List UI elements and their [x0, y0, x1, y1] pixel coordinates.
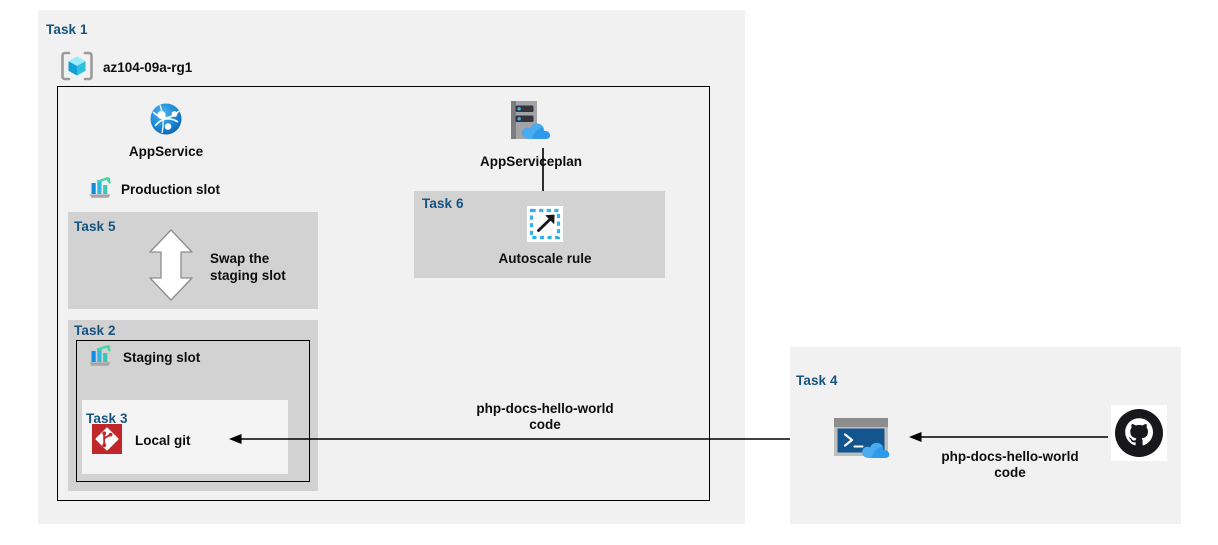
github-to-cloudshell-label-line1: php-docs-hello-world [941, 449, 1078, 464]
resource-group-node: az104-09a-rg1 [60, 50, 192, 87]
swap-slot-label-line1: Swap the [210, 251, 269, 266]
production-slot-label: Production slot [121, 182, 220, 198]
github-to-cloudshell-label: php-docs-hello-world code [925, 449, 1095, 482]
swap-slot-label-line2: staging slot [210, 268, 286, 283]
git-repository-icon [92, 424, 122, 459]
github-to-cloudshell-label-line2: code [994, 465, 1026, 480]
cloud-shell-node [832, 414, 904, 469]
deployment-slot-icon [88, 176, 114, 205]
app-service-plan-label: AppServiceplan [480, 154, 582, 170]
task-1-label: Task 1 [46, 22, 88, 37]
task-6-label: Task 6 [422, 196, 464, 211]
cloud-shell-terminal-icon [832, 414, 904, 469]
swap-slot-label: Swap the staging slot [210, 251, 286, 284]
app-service-globe-icon [149, 102, 183, 141]
resource-group-label: az104-09a-rg1 [103, 60, 192, 76]
local-git-label: Local git [135, 433, 191, 449]
github-node [1111, 405, 1167, 466]
cloudshell-to-localgit-connector [228, 430, 818, 453]
resource-group-cube-icon [60, 50, 94, 87]
autoscale-rule-icon [527, 206, 563, 247]
swap-slot-node: Swap the staging slot [146, 228, 286, 307]
cloudshell-to-localgit-label: php-docs-hello-world code [462, 401, 628, 434]
double-headed-vertical-arrow-icon [146, 228, 196, 307]
app-service-label: AppService [129, 144, 203, 160]
autoscale-rule-label: Autoscale rule [498, 251, 591, 267]
task-4-label: Task 4 [796, 373, 838, 388]
deployment-slot-icon [88, 344, 114, 373]
local-git-node: Local git [92, 424, 191, 459]
staging-slot-node: Staging slot [88, 344, 200, 373]
app-service-plan-server-cloud-icon [501, 98, 561, 151]
task-5-label: Task 5 [74, 219, 116, 234]
cloudshell-to-localgit-label-line1: php-docs-hello-world [476, 401, 613, 416]
production-slot-node: Production slot [88, 176, 220, 205]
app-service-plan-node: AppServiceplan [472, 98, 590, 170]
github-to-cloudshell-connector [908, 428, 1108, 451]
task-2-label: Task 2 [74, 323, 116, 338]
autoscale-rule-node: Autoscale rule [490, 206, 600, 267]
diagram-canvas: Task 1 az104-09a-rg1 [0, 0, 1218, 545]
staging-slot-label: Staging slot [123, 350, 200, 366]
github-octocat-icon [1111, 405, 1167, 466]
app-service-node: AppService [120, 102, 212, 160]
